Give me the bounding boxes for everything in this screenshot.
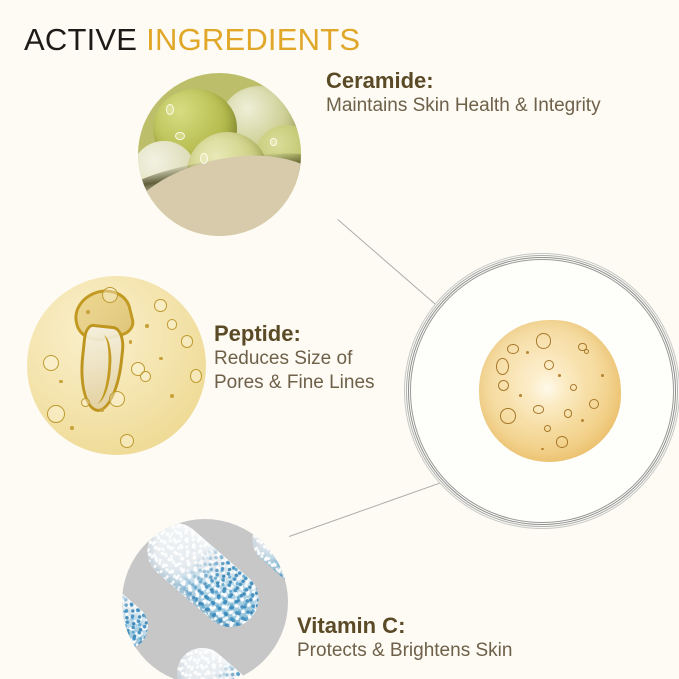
label-peptide: Peptide: Reduces Size of Pores & Fine Li… bbox=[214, 321, 375, 395]
amber-serum-drop bbox=[479, 320, 620, 461]
serum-speck bbox=[581, 419, 584, 422]
ceramide-image bbox=[138, 73, 301, 236]
serum-bubble bbox=[498, 380, 509, 391]
serum-speck bbox=[70, 426, 74, 430]
serum-speck bbox=[145, 324, 149, 328]
serum-speck bbox=[59, 380, 63, 384]
serum-bubble bbox=[564, 409, 572, 417]
active-ingredients-poster: ACTIVEINGREDIENTS bbox=[0, 0, 679, 679]
serum-bubble bbox=[102, 287, 118, 303]
label-ceramide: Ceramide: Maintains Skin Health & Integr… bbox=[326, 68, 601, 118]
serum-speck bbox=[601, 374, 604, 377]
peptide-image bbox=[27, 276, 206, 455]
serum-bubble bbox=[81, 398, 90, 407]
serum-bubble bbox=[496, 358, 509, 375]
serum-bubble bbox=[556, 436, 569, 447]
serum-speck bbox=[519, 394, 522, 397]
serum-speck bbox=[558, 374, 561, 377]
serum-bubble bbox=[190, 369, 203, 383]
serum-bubble bbox=[154, 299, 167, 312]
serum-bubble bbox=[536, 333, 552, 349]
ceramide-description: Maintains Skin Health & Integrity bbox=[326, 94, 601, 118]
serum-bubble bbox=[140, 371, 151, 382]
serum-bubble bbox=[120, 434, 134, 448]
vitamin-c-description: Protects & Brightens Skin bbox=[297, 639, 512, 663]
capsule bbox=[122, 572, 157, 659]
serum-bubble bbox=[109, 391, 125, 407]
serum-bubble bbox=[533, 405, 544, 413]
ceramide-heading: Ceramide: bbox=[326, 68, 601, 94]
vitamin-c-image bbox=[122, 519, 288, 679]
page-title: ACTIVEINGREDIENTS bbox=[24, 22, 360, 58]
peptide-description: Reduces Size of Pores & Fine Lines bbox=[214, 347, 375, 395]
serum-bubble bbox=[544, 360, 554, 370]
capsule-granules bbox=[122, 591, 157, 658]
serum-speck bbox=[526, 351, 529, 354]
connector-ceramide-to-dish bbox=[337, 219, 448, 316]
serum-speck bbox=[159, 357, 163, 361]
serum-bubble bbox=[47, 405, 65, 423]
capsule bbox=[167, 637, 270, 679]
serum-bubble bbox=[167, 319, 178, 330]
serum-bubble bbox=[43, 355, 59, 371]
serum-bubble bbox=[589, 399, 599, 409]
serum-speck bbox=[170, 394, 174, 398]
title-word-ingredients: INGREDIENTS bbox=[146, 22, 360, 57]
serum-bubble bbox=[507, 344, 518, 354]
serum-bubble bbox=[181, 335, 194, 348]
petri-dish-image bbox=[411, 260, 673, 522]
bubble-highlight bbox=[175, 132, 185, 140]
serum-bubble bbox=[584, 349, 590, 355]
serum-speck bbox=[541, 448, 544, 451]
serum-speck bbox=[129, 340, 132, 343]
title-word-active: ACTIVE bbox=[24, 22, 137, 57]
serum-bubble bbox=[500, 408, 516, 424]
serum-bubble bbox=[570, 384, 577, 391]
bubble-highlight bbox=[270, 138, 277, 146]
peptide-heading: Peptide: bbox=[214, 321, 375, 347]
vitamin-c-heading: Vitamin C: bbox=[297, 613, 512, 639]
bubble-highlight bbox=[166, 104, 174, 115]
serum-bubble bbox=[544, 425, 551, 432]
label-vitamin-c: Vitamin C: Protects & Brightens Skin bbox=[297, 613, 512, 663]
